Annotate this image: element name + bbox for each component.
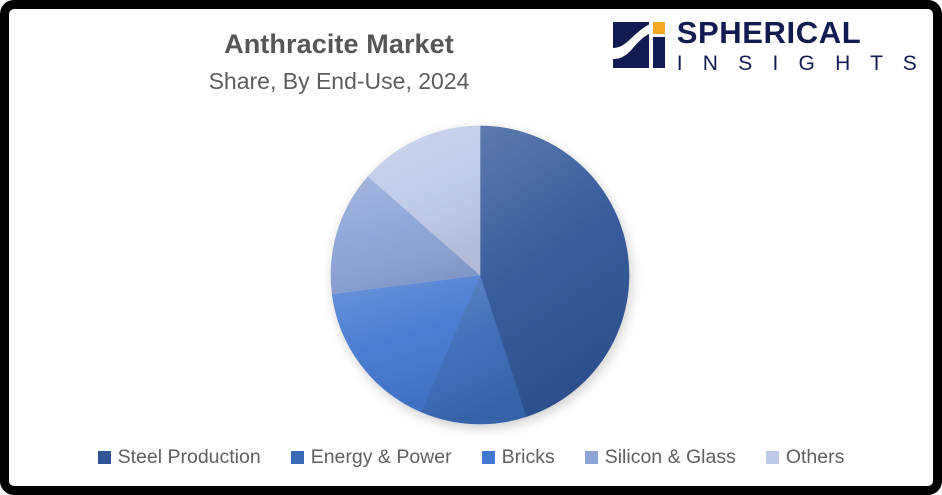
legend-item-label: Others [786, 446, 845, 468]
pie-gloss-group [331, 126, 629, 424]
title-block: Anthracite Market Share, By End-Use, 202… [9, 27, 669, 97]
legend-color-swatch [766, 451, 779, 464]
legend-item[interactable]: Bricks [482, 446, 555, 468]
pie-chart [322, 117, 638, 433]
legend-item[interactable]: Energy & Power [291, 446, 452, 468]
brand-name-line1: SPHERICAL [677, 17, 924, 48]
legend-color-swatch [482, 451, 495, 464]
page-title: Anthracite Market [9, 27, 669, 61]
legend-item[interactable]: Silicon & Glass [585, 446, 736, 468]
legend-item[interactable]: Steel Production [98, 446, 261, 468]
chart-canvas: Anthracite Market Share, By End-Use, 202… [9, 9, 933, 486]
chart-legend: Steel ProductionEnergy & PowerBricksSili… [9, 446, 933, 468]
legend-item[interactable]: Others [766, 446, 845, 468]
legend-color-swatch [291, 451, 304, 464]
brand-wordmark: SPHERICAL I N S I G H T S [677, 17, 924, 74]
brand-name-line2: I N S I G H T S [677, 53, 924, 74]
brand-logo: SPHERICAL I N S I G H T S [611, 17, 924, 74]
pie-chart-svg [322, 117, 638, 433]
legend-item-label: Silicon & Glass [605, 446, 736, 468]
spherical-insights-logo-mark-icon [611, 18, 667, 74]
legend-item-label: Bricks [502, 446, 555, 468]
legend-color-swatch [98, 451, 111, 464]
legend-color-swatch [585, 451, 598, 464]
chart-screenshot: Anthracite Market Share, By End-Use, 202… [0, 0, 942, 495]
legend-item-label: Energy & Power [311, 446, 452, 468]
page-subtitle: Share, By End-Use, 2024 [9, 65, 669, 97]
legend-item-label: Steel Production [118, 446, 261, 468]
